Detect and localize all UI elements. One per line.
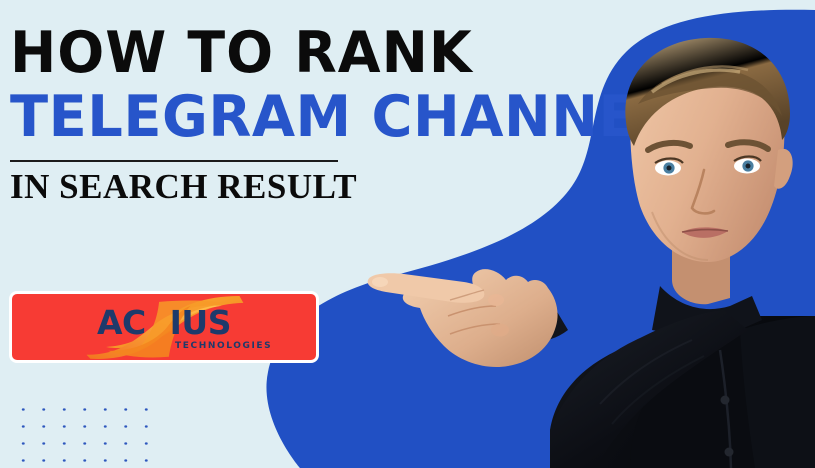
person-photo [300,0,815,468]
dot-grid-decoration [7,395,165,468]
logo-wordmark-right: IUS [170,303,231,342]
acsius-logo-badge[interactable]: ACSIUS TECHNOLOGIES [9,291,319,363]
headline-divider-rule [10,160,338,162]
banner: HOW TO RANK TELEGRAM CHANNELS IN SEARCH … [0,0,815,468]
logo-tagline: TECHNOLOGIES [175,341,272,351]
logo-wordmark: ACSIUS [97,306,231,340]
logo-wordmark-left: AC [97,303,146,342]
